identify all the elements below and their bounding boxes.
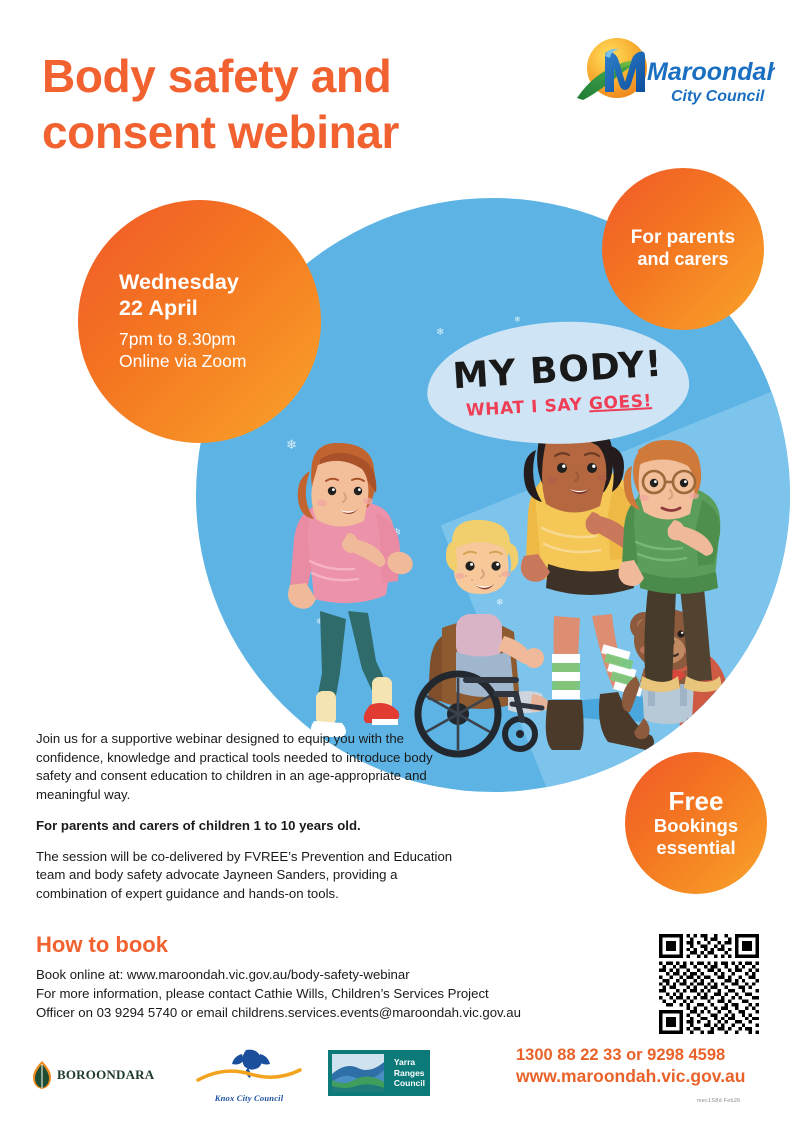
page-title: Body safety and consent webinar: [42, 48, 562, 160]
speech-bubble-sub-part2: GOES!: [588, 391, 652, 414]
logo-yarra-ranges-label: Yarra Ranges Council: [394, 1057, 425, 1089]
date-badge-mode: Online via Zoom: [119, 351, 246, 373]
free-badge: Free Bookings essential: [625, 752, 767, 894]
logo-yarra-ranges: Yarra Ranges Council: [328, 1050, 430, 1096]
free-badge-line-1: Free: [669, 787, 724, 816]
knox-bird-icon: [190, 1048, 308, 1088]
date-badge-date: 22 April: [119, 296, 198, 321]
snowflake-icon: ❄: [436, 328, 444, 338]
illustration-child-pink-jumper: [276, 443, 426, 743]
headline-line-1: Body safety and: [42, 50, 391, 102]
logo-knox: Knox City Council: [190, 1048, 308, 1102]
print-code: mec1S8d Feb26: [697, 1098, 740, 1104]
headline-line-2: consent webinar: [42, 106, 399, 158]
maroondah-council-logo: Maroondah City Council: [575, 34, 775, 120]
yarra-label-line-3: Council: [394, 1078, 425, 1089]
yarra-label-line-1: Yarra: [394, 1057, 425, 1068]
partner-logos: BOROONDARA Knox City Council Y: [32, 1046, 462, 1108]
boroondara-leaf-icon: [32, 1060, 52, 1090]
svg-text:City Council: City Council: [671, 88, 765, 105]
footer-contact: 1300 88 22 33 or 9298 4598 www.maroondah…: [516, 1046, 745, 1087]
body-paragraph-audience: For parents and carers of children 1 to …: [36, 817, 456, 836]
audience-badge: For parents and carers: [602, 168, 764, 330]
how-to-book-title: How to book: [36, 932, 596, 958]
speech-bubble-sub-part1: WHAT I SAY: [465, 394, 589, 420]
audience-badge-line-2: and carers: [637, 249, 728, 271]
contact-line-1: For more information, please contact Cat…: [36, 984, 596, 1003]
body-paragraph-1: Join us for a supportive webinar designe…: [36, 730, 456, 805]
booking-url-line[interactable]: Book online at: www.maroondah.vic.gov.au…: [36, 965, 596, 984]
body-copy: Join us for a supportive webinar designe…: [36, 730, 456, 916]
svg-text:Maroondah: Maroondah: [647, 58, 775, 86]
poster-canvas: ❄ ❄ ❄ ❄ ❄ ❄ ❄ ❄ ❄ ❄ ❄ ❄: [0, 0, 794, 1123]
logo-knox-label: Knox City Council: [190, 1093, 308, 1103]
contact-line-2[interactable]: Officer on 03 9294 5740 or email childre…: [36, 1003, 596, 1022]
snowflake-icon: ❄: [514, 316, 521, 324]
free-badge-line-2: Bookings: [654, 815, 738, 837]
logo-boroondara-label: BOROONDARA: [57, 1067, 154, 1083]
footer-phone[interactable]: 1300 88 22 33 or 9298 4598: [516, 1046, 745, 1066]
illustration-child-green-top: [600, 438, 760, 728]
footer-website[interactable]: www.maroondah.vic.gov.au: [516, 1066, 745, 1087]
qr-code[interactable]: [659, 934, 759, 1034]
logo-boroondara: BOROONDARA: [32, 1060, 154, 1090]
date-badge-time: 7pm to 8.30pm: [119, 329, 236, 351]
date-badge-day: Wednesday: [119, 270, 239, 295]
free-badge-line-3: essential: [656, 837, 735, 859]
date-badge: Wednesday 22 April 7pm to 8.30pm Online …: [78, 200, 321, 443]
body-paragraph-2: The session will be co-delivered by FVRE…: [36, 848, 456, 904]
yarra-label-line-2: Ranges: [394, 1068, 425, 1079]
audience-badge-line-1: For parents: [631, 227, 736, 250]
how-to-book-section: How to book Book online at: www.maroonda…: [36, 932, 596, 1022]
speech-bubble-main-text: MY BODY!: [451, 344, 663, 398]
speech-bubble-sub-text: WHAT I SAY GOES!: [465, 391, 652, 421]
